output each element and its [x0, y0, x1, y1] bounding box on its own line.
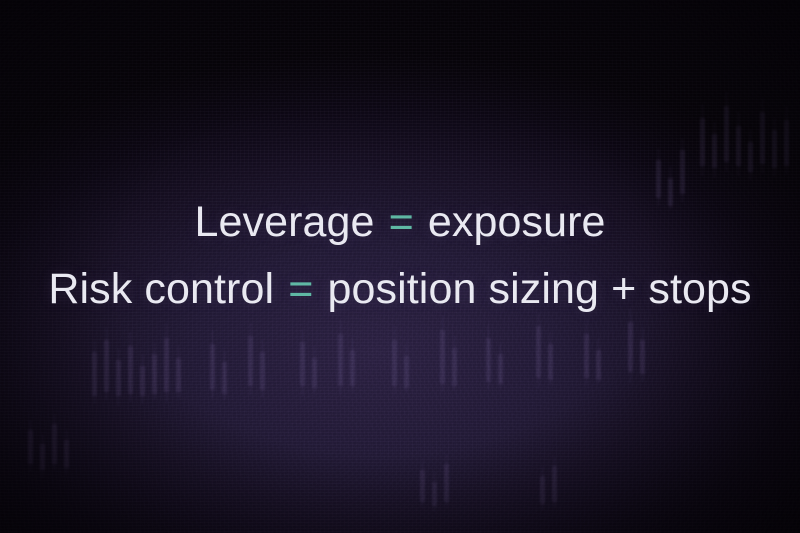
equation-line-leverage: Leverage = exposure	[0, 196, 800, 248]
equals-sign-icon: =	[286, 265, 315, 313]
stops-term: stops	[648, 265, 751, 313]
leverage-term: Leverage	[194, 198, 374, 246]
slide-canvas: Leverage = exposure Risk control = posit…	[0, 0, 800, 533]
exposure-term: exposure	[428, 198, 606, 246]
equals-sign-icon: =	[387, 198, 416, 246]
slide-text-block: Leverage = exposure Risk control = posit…	[0, 196, 800, 315]
position-sizing-term: position sizing	[327, 265, 599, 313]
plus-sign-icon: +	[611, 265, 636, 313]
equation-line-risk-control: Risk control = position sizing + stops	[0, 263, 800, 315]
risk-control-term: Risk control	[48, 265, 274, 313]
